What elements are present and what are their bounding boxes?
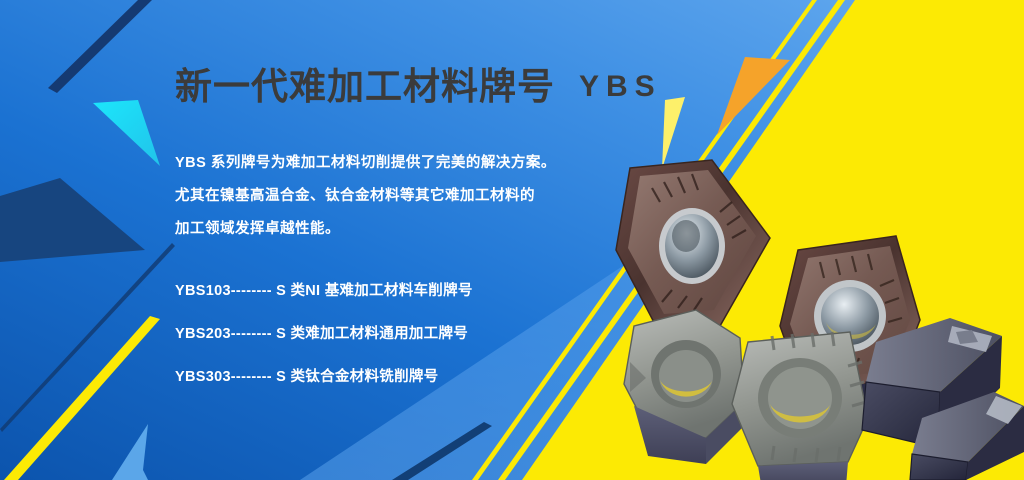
wnmg-trigon-insert	[616, 160, 770, 330]
ybs-promo-banner: 新一代难加工材料牌号 YBS YBS 系列牌号为难加工材料切削提供了完美的解决方…	[0, 0, 1024, 480]
square-milling-insert	[732, 332, 868, 480]
grade-item-ybs203: YBS203-------- S 类难加工材料通用加工牌号	[175, 322, 605, 343]
round-milling-insert-left	[624, 310, 744, 464]
grade-list: YBS103-------- S 类NI 基难加工材料车削牌号 YBS203--…	[175, 279, 605, 386]
description-line: YBS 系列牌号为难加工材料切削提供了完美的解决方案。	[175, 155, 605, 172]
grade-item-ybs103: YBS103-------- S 类NI 基难加工材料车削牌号	[175, 279, 605, 300]
product-image-group	[600, 130, 1024, 480]
description-block: YBS 系列牌号为难加工材料切削提供了完美的解决方案。 尤其在镍基高温合金、钛合…	[175, 155, 605, 239]
description-line: 尤其在镍基高温合金、钛合金材料等其它难加工材料的	[175, 188, 605, 205]
page-title: 新一代难加工材料牌号	[175, 66, 555, 109]
banner-text-block: 新一代难加工材料牌号 YBS YBS 系列牌号为难加工材料切削提供了完美的解决方…	[175, 66, 605, 408]
description-line: 加工领域发挥卓越性能。	[175, 221, 605, 238]
grade-item-ybs303: YBS303-------- S 类钛合金材料铣削牌号	[175, 365, 605, 386]
cutting-inserts-illustration	[600, 130, 1024, 480]
brand-name: YBS	[579, 70, 662, 104]
banner-title: 新一代难加工材料牌号 YBS	[175, 66, 605, 109]
